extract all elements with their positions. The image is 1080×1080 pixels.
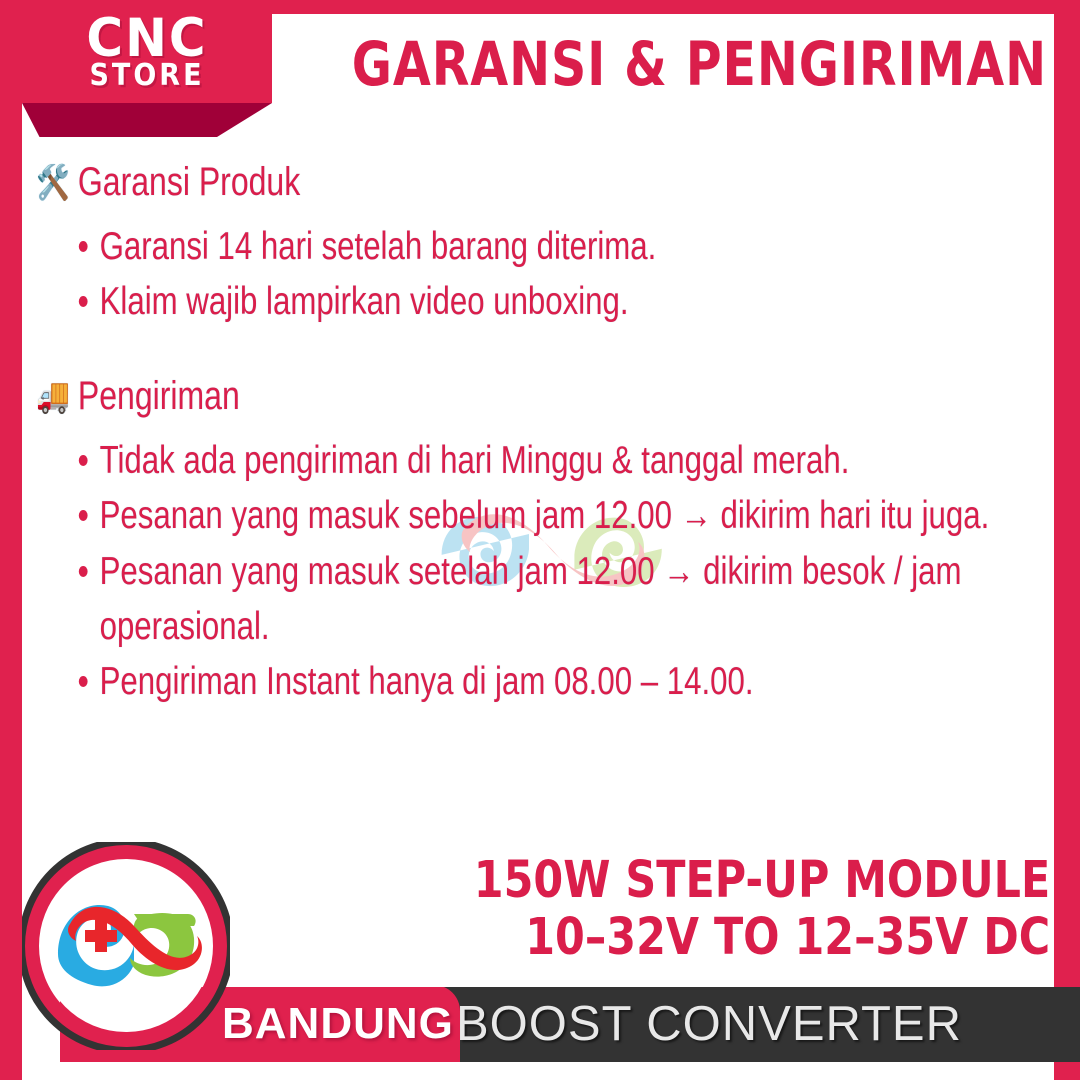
brand-logo-store: STORE	[89, 60, 204, 90]
section-garansi: 🛠️ Garansi Produk Garansi 14 hari setela…	[22, 160, 1054, 330]
section-heading-garansi: 🛠️ Garansi Produk	[36, 160, 850, 205]
product-category-bar: BOOST CONVERTER	[398, 987, 1080, 1062]
list-item: Garansi 14 hari setelah barang diterima.	[74, 219, 1054, 274]
section-heading-pengiriman: 🚚 Pengiriman	[36, 374, 850, 419]
brand-logo-badge	[22, 842, 230, 1050]
list-item: Tidak ada pengiriman di hari Minggu & ta…	[74, 433, 1054, 488]
hammer-and-wrench-icon: 🛠️	[36, 166, 70, 200]
content-body: 🛠️ Garansi Produk Garansi 14 hari setela…	[22, 160, 1054, 710]
poster-frame: CNC STORE GARANSI & PENGIRIMAN 🛠️ Garans…	[0, 0, 1080, 1080]
product-title: 150W STEP-UP MODULE 10–32V TO 12–35V DC	[474, 852, 1050, 966]
list-item: Pengiriman Instant hanya di jam 08.00 – …	[74, 654, 1054, 709]
footer-strip: 150W STEP-UP MODULE 10–32V TO 12–35V DC …	[0, 812, 1080, 1080]
brand-logo-ribbon: CNC STORE	[22, 0, 272, 103]
list-item: Klaim wajib lampirkan video unboxing.	[74, 274, 1054, 329]
pengiriman-list: Tidak ada pengiriman di hari Minggu & ta…	[74, 433, 1054, 710]
product-category-label: BOOST CONVERTER	[456, 995, 962, 1051]
section-spacer	[22, 330, 1054, 374]
section-pengiriman: 🚚 Pengiriman Tidak ada pengiriman di har…	[22, 374, 1054, 710]
section-heading-label: Garansi Produk	[78, 160, 300, 205]
page-title: GARANSI & PENGIRIMAN	[352, 30, 988, 100]
section-heading-label: Pengiriman	[78, 374, 240, 419]
product-title-line1: 150W STEP-UP MODULE	[474, 852, 1050, 909]
product-title-line2: 10–32V TO 12–35V DC	[474, 909, 1050, 966]
ribbon-left-notch	[0, 0, 22, 137]
garansi-list: Garansi 14 hari setelah barang diterima.…	[74, 219, 1054, 330]
delivery-truck-icon: 🚚	[36, 379, 70, 413]
city-tag-label: BANDUNG	[222, 999, 454, 1049]
list-item: Pesanan yang masuk sebelum jam 12.00 → d…	[74, 488, 1054, 543]
list-item: Pesanan yang masuk setelah jam 12.00 → d…	[74, 544, 1054, 655]
brand-logo-cnc: CNC	[86, 13, 207, 61]
